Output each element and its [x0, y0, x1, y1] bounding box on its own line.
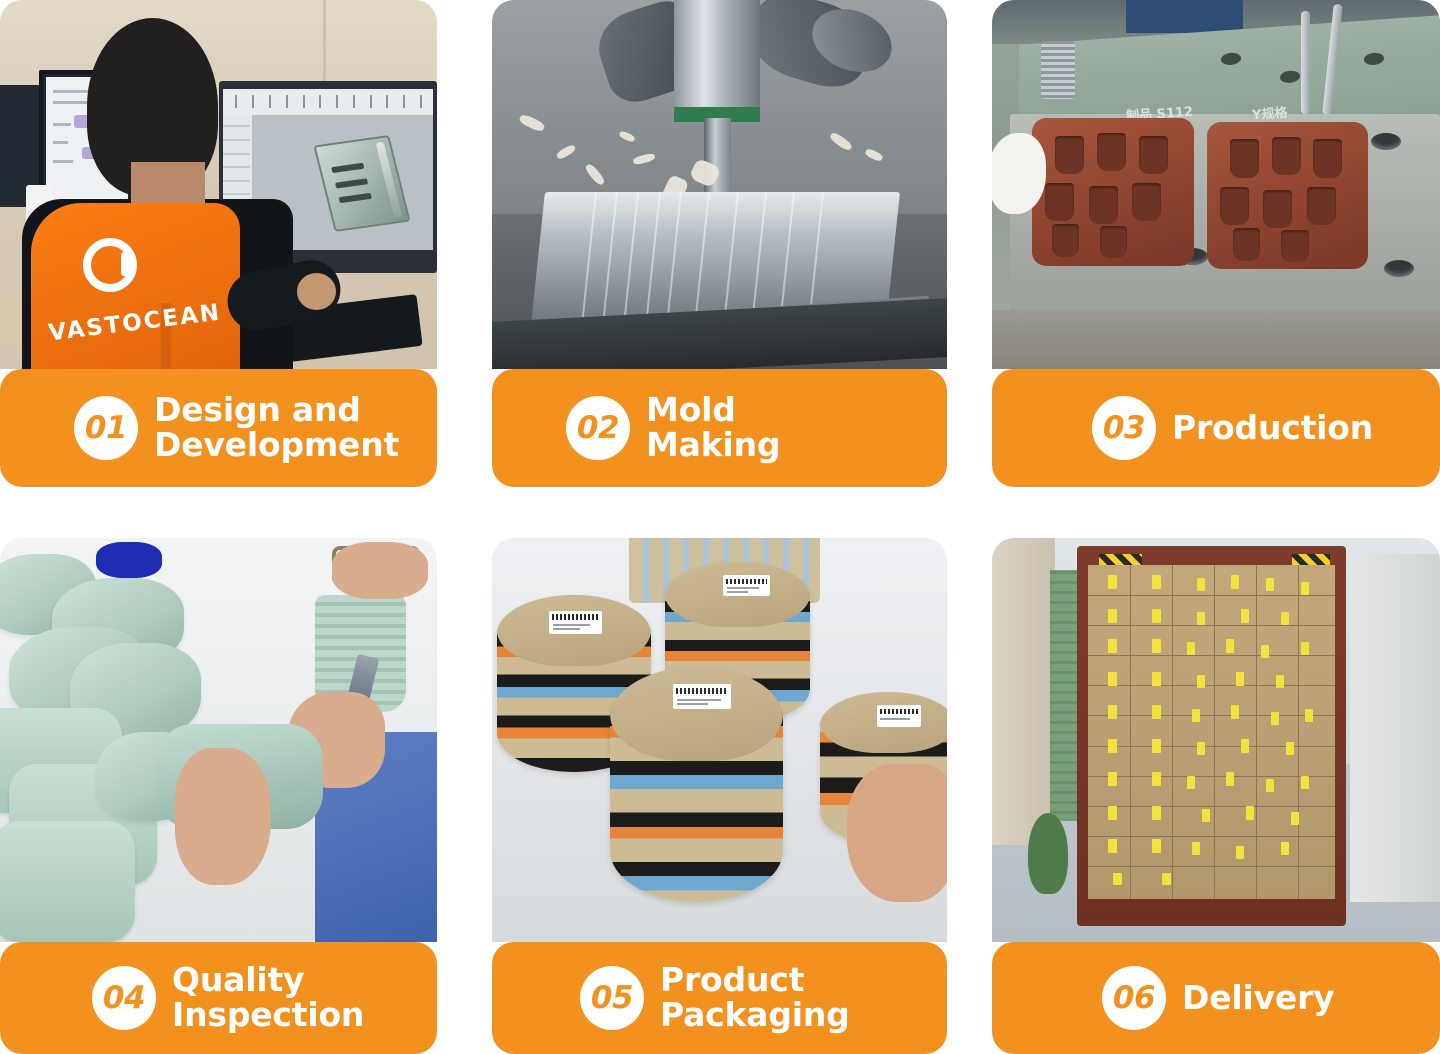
step-label-05: Product Packaging — [660, 963, 850, 1033]
process-step-card-01[interactable]: VASTOCEAN 01 Design and Development — [0, 0, 437, 487]
step-photo-design-and-development: VASTOCEAN — [0, 0, 437, 369]
step-caption-02: 02 Mold Making — [492, 369, 947, 487]
step-caption-05: 05 Product Packaging — [492, 942, 947, 1054]
step-number-badge-01: 01 — [74, 396, 138, 460]
step-photo-mold-making — [492, 0, 947, 369]
package-label — [549, 611, 602, 634]
step-caption-06: 06 Delivery — [992, 942, 1440, 1054]
step-number-badge-06: 06 — [1102, 966, 1166, 1030]
step-photo-production: 制品 S112 Y规格 — [992, 0, 1440, 369]
step-label-02: Mold Making — [646, 393, 780, 463]
process-step-card-05[interactable]: 05 Product Packaging — [492, 538, 947, 1054]
process-step-card-06[interactable]: 06 Delivery — [992, 538, 1440, 1054]
step-number-badge-04: 04 — [92, 966, 156, 1030]
step-number-badge-02: 02 — [566, 396, 630, 460]
step-photo-delivery — [992, 538, 1440, 942]
step-caption-01: 01 Design and Development — [0, 369, 437, 487]
step-photo-quality-inspection — [0, 538, 437, 942]
step-label-03: Production — [1172, 411, 1373, 446]
step-number-badge-03: 03 — [1092, 396, 1156, 460]
process-step-card-02[interactable]: 02 Mold Making — [492, 0, 947, 487]
step-caption-04: 04 Quality Inspection — [0, 942, 437, 1054]
step-label-06: Delivery — [1182, 981, 1334, 1016]
process-step-card-04[interactable]: 04 Quality Inspection — [0, 538, 437, 1054]
process-steps-grid: VASTOCEAN 01 Design and Development — [0, 0, 1440, 1054]
process-step-card-03[interactable]: 制品 S112 Y规格 — [992, 0, 1440, 487]
step-number-badge-05: 05 — [580, 966, 644, 1030]
step-photo-product-packaging — [492, 538, 947, 942]
package-label — [877, 705, 921, 726]
package-label — [723, 575, 770, 596]
package-label — [673, 684, 732, 710]
step-label-01: Design and Development — [154, 393, 399, 463]
step-label-04: Quality Inspection — [172, 963, 364, 1033]
step-caption-03: 03 Production — [992, 369, 1440, 487]
vastocean-logo-icon — [83, 238, 137, 292]
